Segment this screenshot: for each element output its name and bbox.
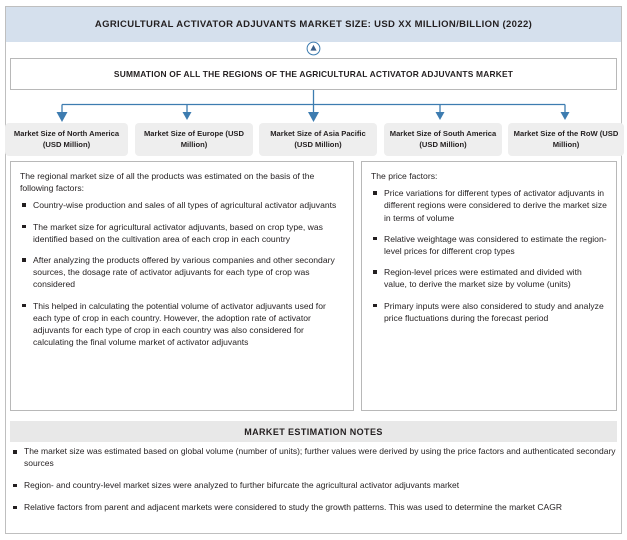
regional-market-size-panel: The regional market size of all the prod… (10, 161, 354, 411)
right-panel-intro: The price factors: (371, 170, 607, 182)
list-item: Relative factors from parent and adjacen… (10, 502, 617, 514)
list-item: Relative weightage was considered to est… (371, 233, 607, 257)
region-label: Market Size of North America (USD Millio… (7, 129, 126, 150)
list-item: The market size was estimated based on g… (10, 446, 617, 470)
notes-heading: MARKET ESTIMATION NOTES (244, 427, 383, 437)
list-item: The market size for agricultural activat… (20, 221, 344, 245)
region-label: Market Size of South America (USD Millio… (386, 129, 500, 150)
left-panel-bullet-list: Country-wise production and sales of all… (20, 199, 344, 348)
list-item: Primary inputs were also considered to s… (371, 300, 607, 324)
summation-box: SUMMATION OF ALL THE REGIONS OF THE AGRI… (10, 58, 617, 90)
region-label: Market Size of Asia Pacific (USD Million… (261, 129, 375, 150)
list-item: Country-wise production and sales of all… (20, 199, 344, 211)
list-item: Region- and country-level market sizes w… (10, 480, 617, 492)
notes-bullet-list: The market size was estimated based on g… (10, 446, 617, 514)
list-item: After analyzing the products offered by … (20, 254, 344, 291)
circle-up-arrow-icon (306, 41, 321, 56)
left-panel-intro: The regional market size of all the prod… (20, 170, 344, 194)
region-box-asia-pacific[interactable]: Market Size of Asia Pacific (USD Million… (259, 123, 377, 156)
region-label: Market Size of Europe (USD Million) (137, 129, 251, 150)
market-estimation-notes-band: MARKET ESTIMATION NOTES (10, 421, 617, 442)
list-item: Price variations for different types of … (371, 187, 607, 224)
region-box-europe[interactable]: Market Size of Europe (USD Million) (135, 123, 253, 156)
region-box-north-america[interactable]: Market Size of North America (USD Millio… (5, 123, 128, 156)
price-factors-panel: The price factors: Price variations for … (361, 161, 617, 411)
right-panel-bullet-list: Price variations for different types of … (371, 187, 607, 324)
region-label: Market Size of the RoW (USD Million) (510, 129, 622, 150)
title-band: AGRICULTURAL ACTIVATOR ADJUVANTS MARKET … (6, 7, 621, 42)
list-item: This helped in calculating the potential… (20, 300, 344, 349)
summation-label: SUMMATION OF ALL THE REGIONS OF THE AGRI… (114, 69, 513, 79)
region-box-south-america[interactable]: Market Size of South America (USD Millio… (384, 123, 502, 156)
page-title: AGRICULTURAL ACTIVATOR ADJUVANTS MARKET … (95, 19, 532, 30)
diagram-canvas: AGRICULTURAL ACTIVATOR ADJUVANTS MARKET … (0, 0, 627, 540)
list-item: Region-level prices were estimated and d… (371, 266, 607, 290)
market-estimation-notes-body: The market size was estimated based on g… (10, 446, 617, 524)
region-boxes-row: Market Size of North America (USD Millio… (5, 123, 624, 156)
region-box-row[interactable]: Market Size of the RoW (USD Million) (508, 123, 624, 156)
